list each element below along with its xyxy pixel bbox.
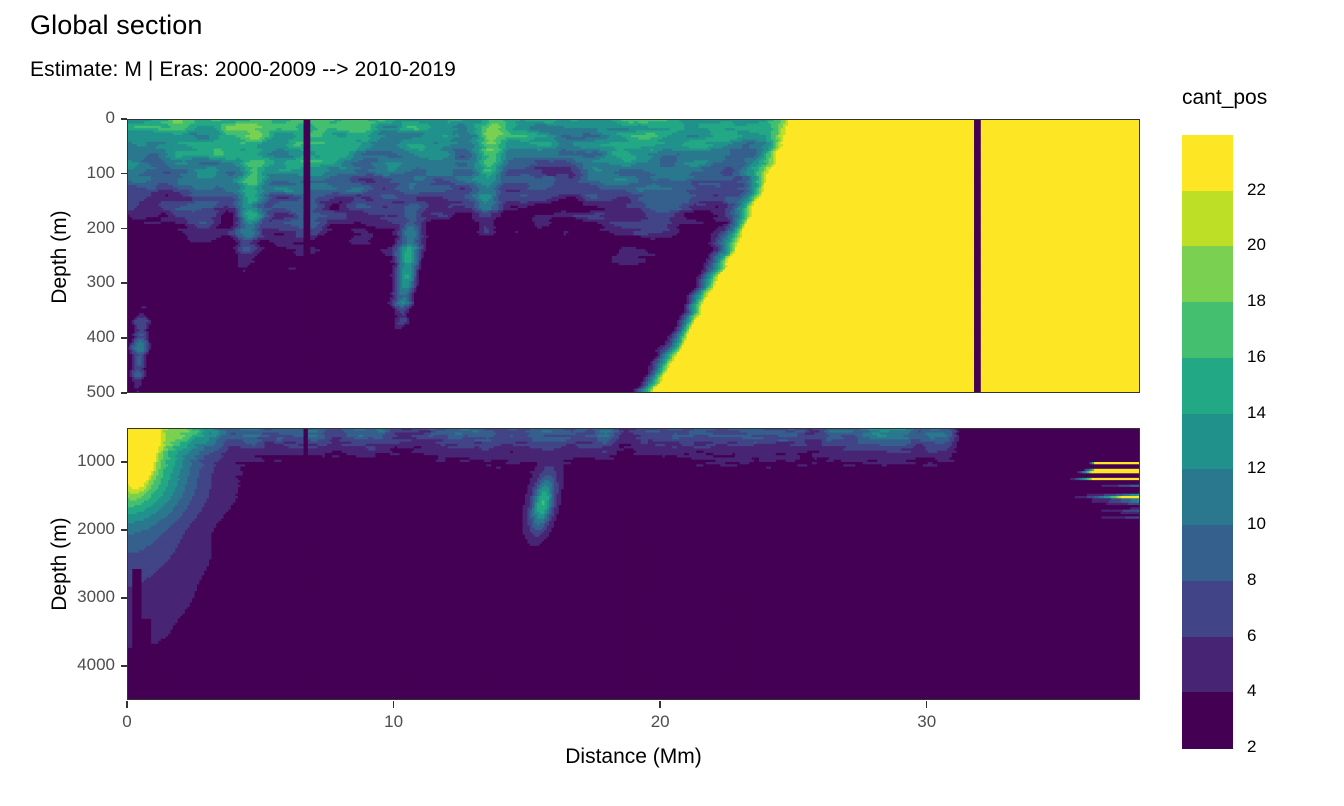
axis-tick: [121, 337, 127, 339]
axis-tick: [659, 701, 661, 708]
y-axis-title-top: Depth (m): [48, 177, 72, 337]
legend-tick-label: 16: [1247, 347, 1266, 367]
axis-tick: [393, 701, 395, 708]
axis-tick: [121, 282, 127, 284]
axis-tick: [121, 173, 127, 175]
x-tick-label: 0: [87, 712, 167, 732]
legend-colorbar[interactable]: [1182, 135, 1233, 748]
legend-band: [1182, 358, 1233, 414]
axis-tick: [121, 665, 127, 667]
legend-band: [1182, 692, 1233, 748]
legend-tick-label: 2: [1247, 737, 1256, 757]
legend-tick-label: 18: [1247, 291, 1266, 311]
y-tick-label-bottom: 3000: [51, 587, 115, 607]
legend-band: [1182, 469, 1233, 525]
legend-tick-label: 20: [1247, 235, 1266, 255]
deep-section-panel: [127, 428, 1140, 700]
axis-tick: [121, 529, 127, 531]
y-tick-label-bottom: 4000: [51, 655, 115, 675]
legend-tick-label: 6: [1247, 626, 1256, 646]
axis-tick: [121, 228, 127, 230]
y-tick-label-bottom: 2000: [51, 519, 115, 539]
x-tick-label: 30: [887, 712, 967, 732]
legend-band: [1182, 135, 1233, 191]
axis-tick: [126, 701, 128, 708]
axis-tick: [926, 701, 928, 708]
y-tick-label-top: 400: [51, 327, 115, 347]
legend-band: [1182, 302, 1233, 358]
y-tick-label-top: 100: [51, 163, 115, 183]
y-tick-label-top: 200: [51, 218, 115, 238]
legend-band: [1182, 246, 1233, 302]
legend-tick-label: 12: [1247, 458, 1266, 478]
chart-page: Global section Estimate: M | Eras: 2000-…: [0, 0, 1344, 806]
x-axis-title: Distance (Mm): [127, 745, 1140, 769]
legend-band: [1182, 637, 1233, 693]
page-title: Global section: [30, 10, 203, 41]
legend-title: cant_pos: [1182, 86, 1267, 110]
y-tick-label-top: 0: [51, 108, 115, 128]
x-tick-label: 20: [620, 712, 700, 732]
axis-tick: [121, 392, 127, 394]
deep-contour-field: [127, 428, 1140, 700]
legend-tick-label: 4: [1247, 681, 1256, 701]
legend-tick-label: 22: [1247, 180, 1266, 200]
shallow-contour-field: [127, 119, 1140, 393]
legend-band: [1182, 191, 1233, 247]
shallow-section-panel: [127, 119, 1140, 393]
legend-band: [1182, 525, 1233, 581]
axis-tick: [121, 118, 127, 120]
page-subtitle: Estimate: M | Eras: 2000-2009 --> 2010-2…: [30, 58, 456, 82]
legend-tick-label: 8: [1247, 570, 1256, 590]
legend-band: [1182, 581, 1233, 637]
y-tick-label-top: 300: [51, 272, 115, 292]
y-axis-title-bottom: Depth (m): [48, 484, 72, 644]
axis-tick: [121, 597, 127, 599]
x-tick-label: 10: [354, 712, 434, 732]
y-tick-label-bottom: 1000: [51, 451, 115, 471]
y-tick-label-top: 500: [51, 382, 115, 402]
legend-tick-label: 14: [1247, 403, 1266, 423]
legend-band: [1182, 414, 1233, 470]
axis-tick: [121, 461, 127, 463]
legend-tick-label: 10: [1247, 514, 1266, 534]
